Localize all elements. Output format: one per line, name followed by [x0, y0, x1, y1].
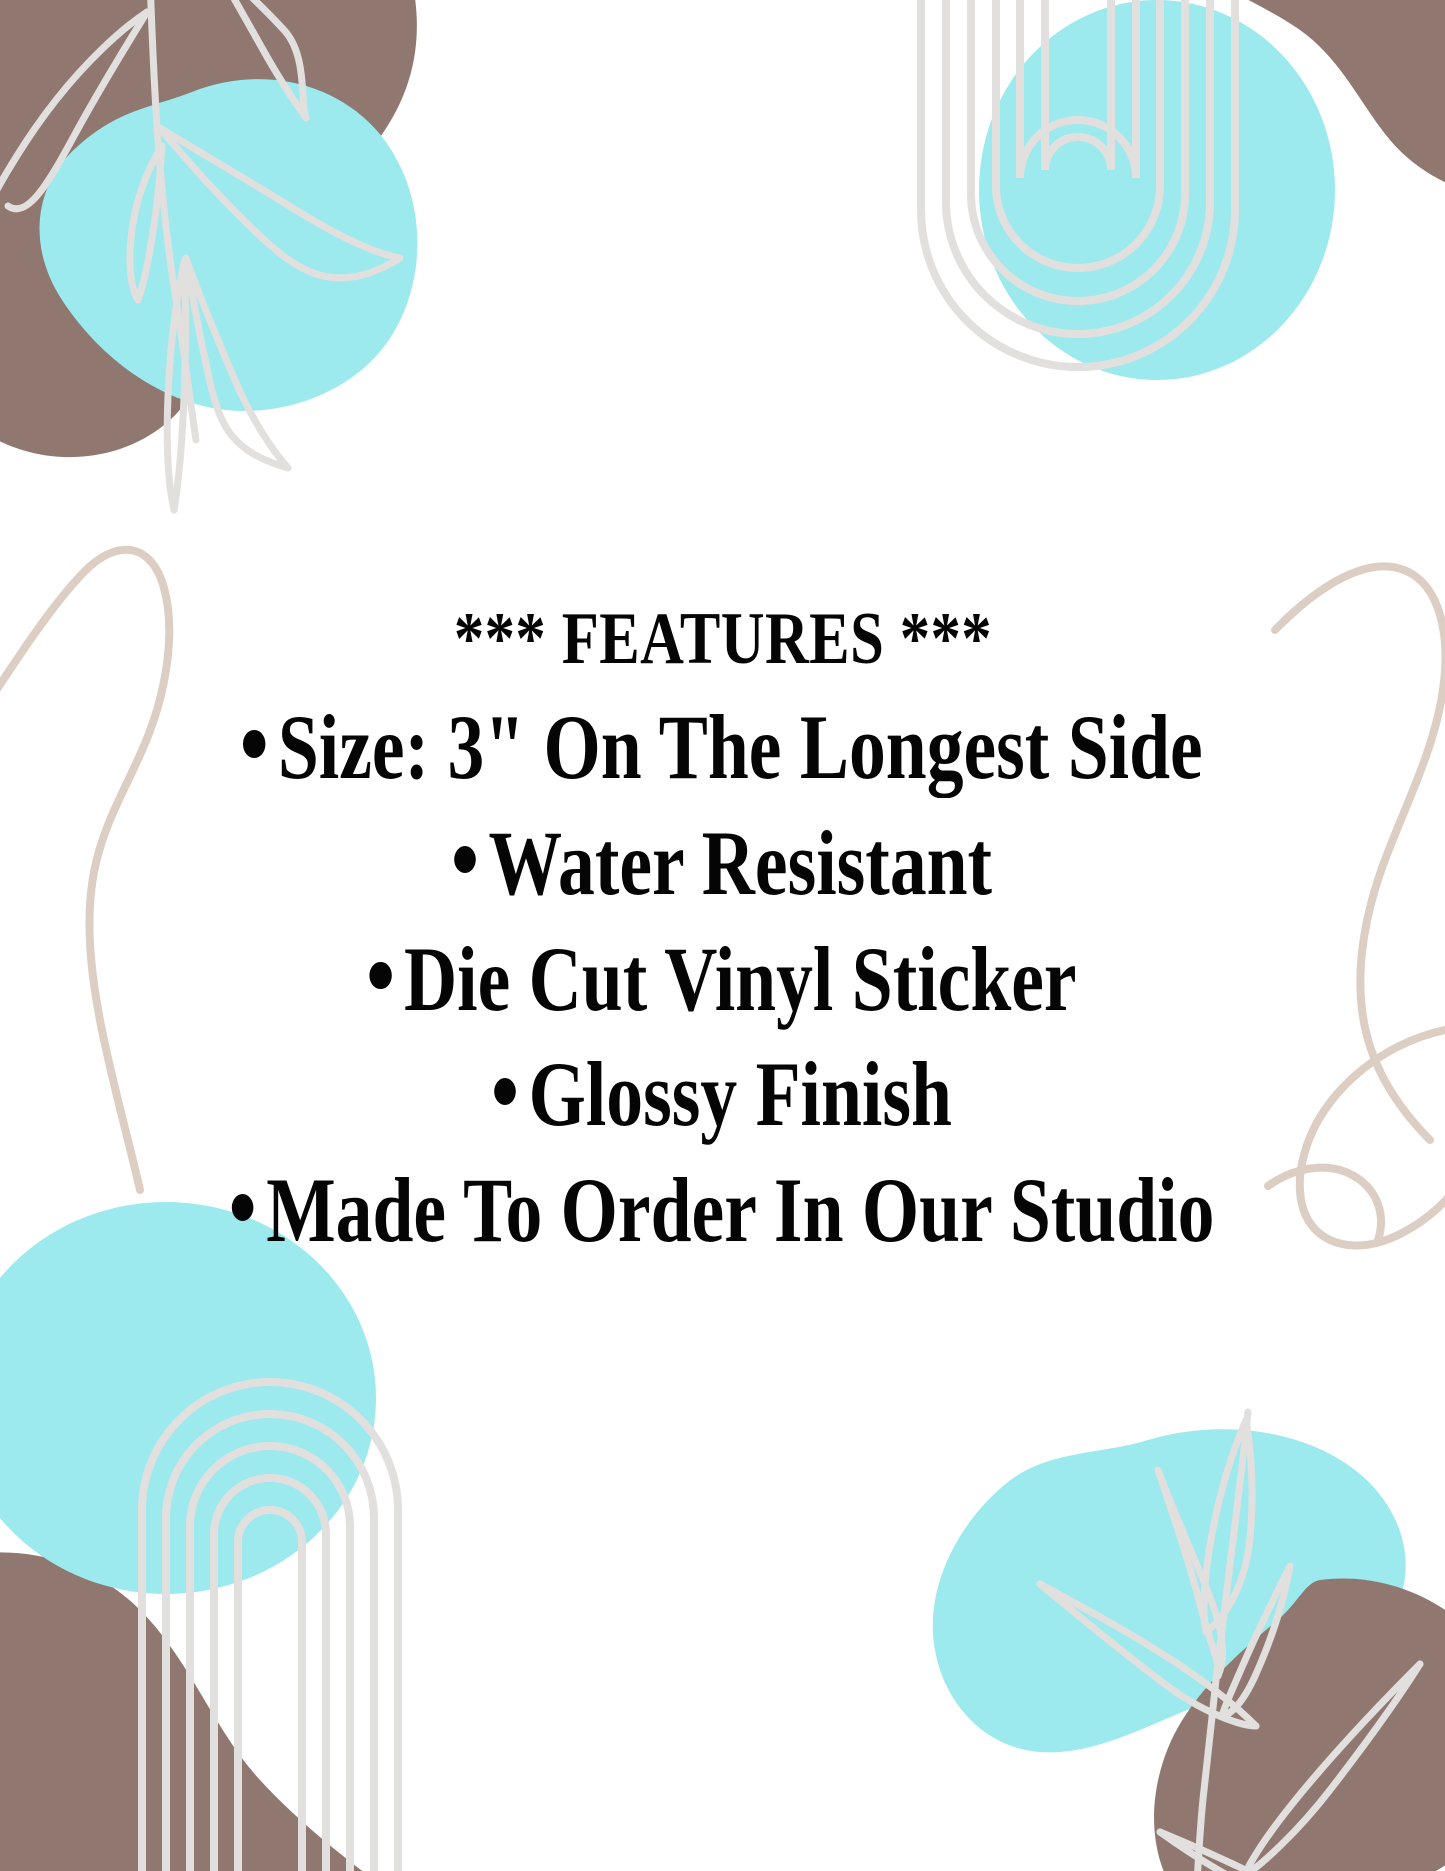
feature-label: Die Cut Vinyl Sticker [403, 928, 1076, 1030]
bullet-icon [369, 962, 391, 990]
features-panel: *** FEATURES *** Size: 3" On The Longest… [0, 0, 1445, 1871]
feature-list: Size: 3" On The Longest Side Water Resis… [53, 690, 1393, 1270]
feature-label: Size: 3" On The Longest Side [277, 696, 1202, 798]
feature-item-water-resistant: Water Resistant [187, 806, 1259, 922]
feature-item-die-cut: Die Cut Vinyl Sticker [187, 922, 1259, 1038]
feature-label: Water Resistant [488, 812, 992, 914]
feature-item-size: Size: 3" On The Longest Side [187, 690, 1259, 806]
bullet-icon [494, 1078, 516, 1106]
bullet-icon [231, 1194, 253, 1222]
page-title: *** FEATURES *** [173, 602, 1272, 676]
feature-label: Made To Order In Our Studio [266, 1159, 1214, 1261]
feature-label: Glossy Finish [528, 1043, 951, 1145]
feature-item-glossy-finish: Glossy Finish [187, 1037, 1259, 1153]
feature-item-made-to-order: Made To Order In Our Studio [187, 1153, 1259, 1269]
bullet-icon [453, 846, 475, 874]
bullet-icon [243, 730, 265, 758]
text-stack: *** FEATURES *** Size: 3" On The Longest… [53, 602, 1393, 1270]
